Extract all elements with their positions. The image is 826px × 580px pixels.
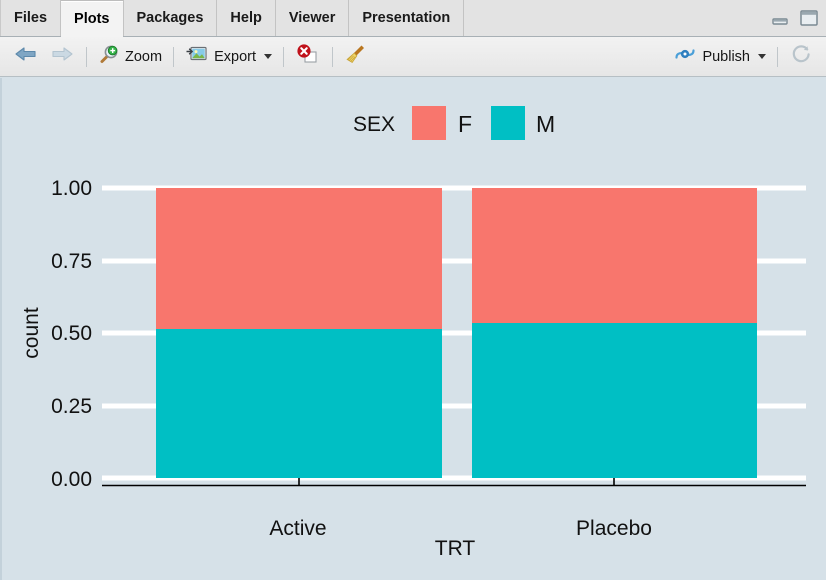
toolbar-separator bbox=[173, 47, 174, 67]
export-image-icon bbox=[185, 43, 209, 70]
export-label: Export bbox=[214, 49, 256, 65]
tab-label: Files bbox=[14, 10, 47, 26]
x-axis-title: TRT bbox=[435, 537, 476, 560]
zoom-magnifier-icon bbox=[98, 43, 120, 70]
tab-label: Packages bbox=[137, 10, 204, 26]
x-tick-label: Active bbox=[269, 517, 326, 540]
tab-packages[interactable]: Packages bbox=[124, 0, 218, 36]
clear-all-plots-button[interactable] bbox=[339, 42, 373, 72]
remove-plot-button[interactable] bbox=[290, 42, 326, 72]
plots-pane: Files Plots Packages Help Viewer Present… bbox=[0, 0, 826, 580]
refresh-icon bbox=[789, 43, 813, 70]
zoom-button[interactable]: Zoom bbox=[93, 42, 167, 72]
chevron-down-icon[interactable] bbox=[264, 54, 272, 59]
tab-help[interactable]: Help bbox=[217, 0, 275, 36]
legend-label-f: F bbox=[458, 111, 472, 137]
zoom-label: Zoom bbox=[125, 49, 162, 65]
previous-plot-button[interactable] bbox=[8, 42, 44, 72]
remove-x-icon bbox=[295, 43, 321, 70]
y-axis-title: count bbox=[20, 307, 43, 359]
back-arrow-icon bbox=[13, 44, 39, 69]
tab-presentation[interactable]: Presentation bbox=[349, 0, 464, 36]
publish-button[interactable]: Publish bbox=[668, 42, 771, 72]
legend-swatch-m bbox=[491, 106, 525, 140]
y-tick-label: 0.25 bbox=[51, 395, 92, 418]
bar-segment-placebo-m[interactable] bbox=[472, 323, 757, 478]
toolbar-separator bbox=[86, 47, 87, 67]
legend-title: SEX bbox=[353, 113, 395, 136]
bar-group-active[interactable] bbox=[156, 188, 442, 478]
bar-segment-active-m[interactable] bbox=[156, 329, 442, 478]
tab-files[interactable]: Files bbox=[0, 0, 61, 36]
maximize-icon[interactable] bbox=[798, 7, 820, 29]
y-tick-label: 0.75 bbox=[51, 250, 92, 273]
bar-group-placebo[interactable] bbox=[472, 188, 757, 478]
y-tick-label: 1.00 bbox=[51, 177, 92, 200]
plots-toolbar: Zoom Export bbox=[0, 37, 826, 77]
tab-viewer[interactable]: Viewer bbox=[276, 0, 350, 36]
ggplot-stacked-fill-bar-chart: SEX F M 1.00 0.75 0.50 0.25 0.00 count bbox=[2, 78, 826, 580]
y-tick-label: 0.00 bbox=[51, 468, 92, 491]
publish-icon bbox=[673, 43, 697, 70]
toolbar-separator bbox=[283, 47, 284, 67]
tab-plots[interactable]: Plots bbox=[61, 0, 123, 36]
toolbar-separator bbox=[777, 47, 778, 67]
x-tick-label: Placebo bbox=[576, 517, 652, 540]
tab-label: Help bbox=[230, 10, 261, 26]
legend-swatch-f bbox=[412, 106, 446, 140]
next-plot-button[interactable] bbox=[44, 42, 80, 72]
tab-label: Plots bbox=[74, 11, 109, 27]
broom-icon bbox=[344, 43, 368, 70]
bar-segment-active-f[interactable] bbox=[156, 188, 442, 329]
refresh-plot-button[interactable] bbox=[784, 42, 818, 72]
forward-arrow-icon bbox=[49, 44, 75, 69]
tab-label: Viewer bbox=[289, 10, 336, 26]
minimize-icon[interactable] bbox=[770, 8, 790, 28]
publish-label: Publish bbox=[702, 49, 750, 65]
pane-tabstrip: Files Plots Packages Help Viewer Present… bbox=[0, 0, 826, 37]
bar-segment-placebo-f[interactable] bbox=[472, 188, 757, 323]
plot-output-region[interactable]: SEX F M 1.00 0.75 0.50 0.25 0.00 count bbox=[0, 78, 826, 580]
pane-window-controls bbox=[770, 7, 820, 29]
y-tick-label: 0.50 bbox=[51, 322, 92, 345]
tab-label: Presentation bbox=[362, 10, 450, 26]
toolbar-separator bbox=[332, 47, 333, 67]
legend-label-m: M bbox=[536, 111, 555, 137]
export-button[interactable]: Export bbox=[180, 42, 277, 72]
chevron-down-icon[interactable] bbox=[758, 54, 766, 59]
